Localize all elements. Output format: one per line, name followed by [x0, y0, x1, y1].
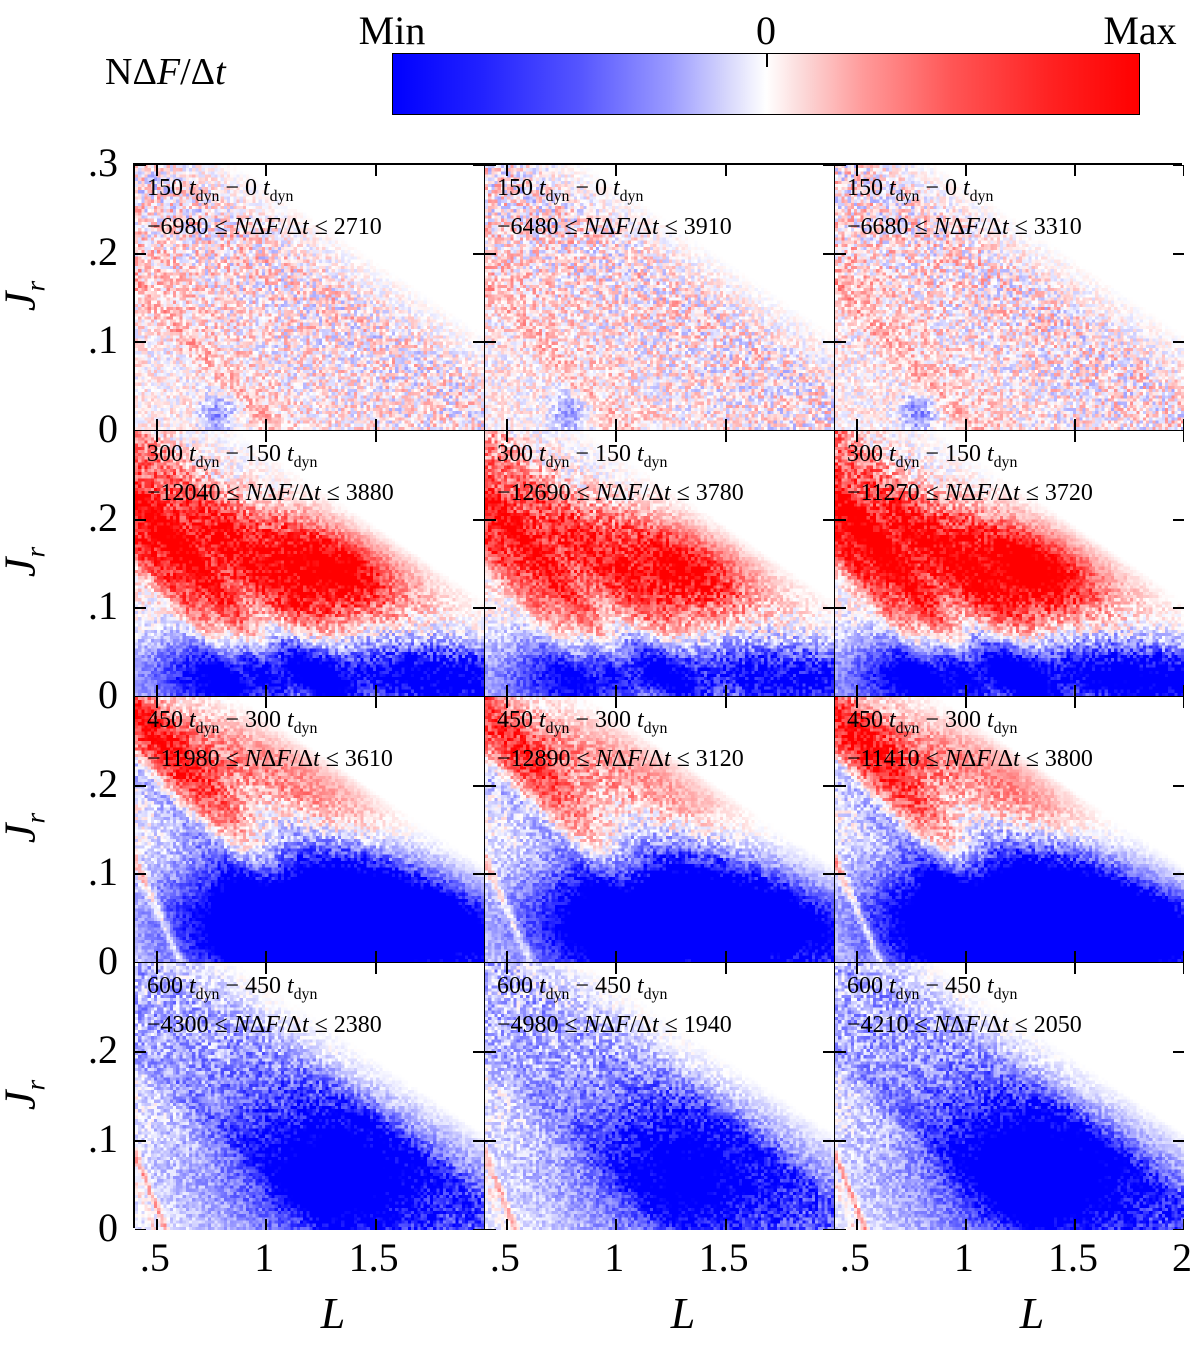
x-tick: [375, 165, 377, 176]
x-tick: [1183, 697, 1184, 708]
panel-value-range: −11410 ≤ NΔF/Δt ≤ 3800: [847, 744, 1093, 774]
x-tick: [615, 431, 617, 442]
panel-value-range: −12040 ≤ NΔF/Δt ≤ 3880: [147, 478, 394, 508]
x-tick: [725, 963, 727, 974]
x-tick: [965, 165, 967, 176]
y-tick: [823, 253, 834, 255]
x-tick: [156, 1219, 158, 1230]
x-tick: [506, 697, 508, 708]
panel-annotation: 300 tdyn − 150 tdyn−12690 ≤ NΔF/Δt ≤ 378…: [497, 439, 744, 508]
y-tick: [485, 253, 496, 255]
y-tick-label: .2: [38, 1030, 118, 1070]
x-tick: [506, 431, 508, 442]
y-tick: [135, 873, 146, 875]
y-tick: [823, 165, 834, 166]
x-tick: [1074, 431, 1076, 442]
x-tick: [265, 1219, 267, 1230]
x-tick: [156, 963, 158, 974]
y-tick: [485, 1140, 496, 1142]
y-tick: [835, 1051, 846, 1053]
x-tick: [506, 165, 508, 176]
y-tick-label: .3: [38, 143, 118, 183]
x-tick: [156, 165, 158, 176]
x-tick: [856, 951, 858, 962]
panel-annotation: 150 tdyn − 0 tdyn−6980 ≤ NΔF/Δt ≤ 2710: [147, 173, 382, 242]
y-tick: [473, 607, 484, 609]
x-tick: [615, 1219, 617, 1230]
y-tick: [835, 165, 846, 166]
x-tick: [265, 685, 267, 696]
panel-r3-c2: 600 tdyn − 450 tdyn−4210 ≤ NΔF/Δt ≤ 2050: [835, 963, 1184, 1230]
panel-time-window: 150 tdyn − 0 tdyn: [847, 173, 1082, 212]
x-tick: [856, 165, 858, 176]
x-tick: [725, 431, 727, 442]
x-tick-label: .5: [140, 1238, 170, 1278]
x-tick: [1183, 685, 1184, 696]
x-tick: [615, 697, 617, 708]
y-tick: [473, 873, 484, 875]
x-tick: [856, 963, 858, 974]
x-tick: [506, 1219, 508, 1230]
x-tick-label: 2: [1172, 1238, 1192, 1278]
y-tick: [1173, 519, 1184, 521]
x-tick: [506, 685, 508, 696]
x-tick: [1074, 963, 1076, 974]
x-tick: [965, 431, 967, 442]
panel-r1-c1: 300 tdyn − 150 tdyn−12690 ≤ NΔF/Δt ≤ 378…: [485, 431, 835, 697]
y-tick: [835, 873, 846, 875]
x-tick: [615, 419, 617, 430]
x-tick: [1183, 431, 1184, 442]
colorbar: Min 0 Max: [392, 53, 1140, 115]
panel-annotation: 450 tdyn − 300 tdyn−12890 ≤ NΔF/Δt ≤ 312…: [497, 705, 744, 774]
panel-annotation: 600 tdyn − 450 tdyn−4210 ≤ NΔF/Δt ≤ 2050: [847, 971, 1082, 1040]
x-tick: [506, 963, 508, 974]
y-tick: [135, 1140, 146, 1142]
x-tick: [375, 685, 377, 696]
x-tick: [1074, 165, 1076, 176]
panel-annotation: 300 tdyn − 150 tdyn−12040 ≤ NΔF/Δt ≤ 388…: [147, 439, 394, 508]
panel-annotation: 150 tdyn − 0 tdyn−6680 ≤ NΔF/Δt ≤ 3310: [847, 173, 1082, 242]
panel-time-window: 150 tdyn − 0 tdyn: [497, 173, 732, 212]
y-tick: [473, 341, 484, 343]
y-tick: [135, 165, 146, 166]
x-tick: [265, 419, 267, 430]
panel-value-range: −4300 ≤ NΔF/Δt ≤ 2380: [147, 1010, 382, 1040]
y-tick: [485, 519, 496, 521]
y-tick-label: .1: [38, 1119, 118, 1159]
x-tick: [856, 697, 858, 708]
y-axis-name-row1: Jr: [0, 547, 51, 577]
panel-time-window: 600 tdyn − 450 tdyn: [847, 971, 1082, 1010]
y-tick: [823, 785, 834, 787]
colorbar-max-label: Max: [1103, 11, 1176, 51]
x-tick: [375, 1219, 377, 1230]
panel-r0-c2: 150 tdyn − 0 tdyn−6680 ≤ NΔF/Δt ≤ 3310: [835, 165, 1184, 431]
y-tick: [823, 607, 834, 609]
panel-time-window: 600 tdyn − 450 tdyn: [147, 971, 382, 1010]
x-tick: [965, 963, 967, 974]
x-tick: [965, 1219, 967, 1230]
x-tick: [1074, 419, 1076, 430]
colorbar-gradient: [392, 53, 1140, 115]
x-tick: [156, 431, 158, 442]
y-tick: [1173, 1140, 1184, 1142]
y-tick: [485, 873, 496, 875]
y-tick-label: 0: [38, 409, 118, 449]
panel-annotation: 300 tdyn − 150 tdyn−11270 ≤ NΔF/Δt ≤ 372…: [847, 439, 1093, 508]
x-tick: [725, 685, 727, 696]
x-tick: [265, 165, 267, 176]
y-tick: [485, 1229, 496, 1230]
panel-annotation: 600 tdyn − 450 tdyn−4980 ≤ NΔF/Δt ≤ 1940: [497, 971, 732, 1040]
panel-annotation: 600 tdyn − 450 tdyn−4300 ≤ NΔF/Δt ≤ 2380: [147, 971, 382, 1040]
y-axis-name-row0: Jr: [0, 281, 51, 311]
panel-value-range: −12690 ≤ NΔF/Δt ≤ 3780: [497, 478, 744, 508]
x-axis-name-col0: L: [321, 1288, 345, 1339]
x-tick: [1074, 697, 1076, 708]
y-tick-label: 0: [38, 941, 118, 981]
x-tick: [375, 419, 377, 430]
x-tick: [615, 963, 617, 974]
y-tick: [485, 1051, 496, 1053]
y-tick-label: 0: [38, 675, 118, 715]
y-axis-name-row3: Jr: [0, 1080, 51, 1110]
x-tick: [375, 697, 377, 708]
panel-time-window: 600 tdyn − 450 tdyn: [497, 971, 732, 1010]
y-tick: [485, 165, 496, 166]
y-tick: [1173, 1051, 1184, 1053]
x-tick: [1183, 419, 1184, 430]
panel-annotation: 150 tdyn − 0 tdyn−6480 ≤ NΔF/Δt ≤ 3910: [497, 173, 732, 242]
x-tick: [965, 419, 967, 430]
panel-value-range: −6980 ≤ NΔF/Δt ≤ 2710: [147, 212, 382, 242]
panel-time-window: 450 tdyn − 300 tdyn: [497, 705, 744, 744]
panel-value-range: −4210 ≤ NΔF/Δt ≤ 2050: [847, 1010, 1082, 1040]
x-tick: [1074, 951, 1076, 962]
y-tick: [835, 253, 846, 255]
y-tick-label: 0: [38, 1208, 118, 1248]
y-tick: [835, 341, 846, 343]
y-tick-label: .1: [38, 852, 118, 892]
y-tick: [823, 1140, 834, 1142]
panel-time-window: 450 tdyn − 300 tdyn: [847, 705, 1093, 744]
panel-r2-c0: 450 tdyn − 300 tdyn−11980 ≤ NΔF/Δt ≤ 361…: [135, 697, 485, 963]
x-tick-label: 1.5: [1048, 1238, 1098, 1278]
y-tick: [135, 785, 146, 787]
x-tick: [856, 1219, 858, 1230]
panel-annotation: 450 tdyn − 300 tdyn−11980 ≤ NΔF/Δt ≤ 361…: [147, 705, 393, 774]
y-tick: [473, 785, 484, 787]
y-tick: [135, 1229, 146, 1230]
y-tick: [135, 341, 146, 343]
y-tick: [1173, 341, 1184, 343]
x-tick: [725, 697, 727, 708]
panel-r0-c0: 150 tdyn − 0 tdyn−6980 ≤ NΔF/Δt ≤ 2710: [135, 165, 485, 431]
x-tick: [375, 951, 377, 962]
x-tick-label: 1.5: [699, 1238, 749, 1278]
y-tick: [823, 1229, 834, 1230]
y-tick: [473, 1051, 484, 1053]
x-tick-label: 1: [254, 1238, 274, 1278]
panel-r3-c1: 600 tdyn − 450 tdyn−4980 ≤ NΔF/Δt ≤ 1940: [485, 963, 835, 1230]
y-tick: [835, 519, 846, 521]
x-tick: [265, 963, 267, 974]
y-tick: [1173, 607, 1184, 609]
panel-time-window: 300 tdyn − 150 tdyn: [147, 439, 394, 478]
y-tick: [485, 341, 496, 343]
x-tick-label: 1: [954, 1238, 974, 1278]
y-axis-name-row2: Jr: [0, 813, 51, 843]
x-tick: [725, 1219, 727, 1230]
colorbar-zero-label: 0: [756, 11, 776, 51]
panel-r2-c2: 450 tdyn − 300 tdyn−11410 ≤ NΔF/Δt ≤ 380…: [835, 697, 1184, 963]
y-tick-label: .2: [38, 498, 118, 538]
y-tick: [135, 519, 146, 521]
x-tick: [965, 951, 967, 962]
y-tick: [823, 1051, 834, 1053]
x-tick: [506, 951, 508, 962]
x-tick: [265, 951, 267, 962]
panel-time-window: 450 tdyn − 300 tdyn: [147, 705, 393, 744]
y-tick: [473, 1140, 484, 1142]
x-axis-name-col1: L: [671, 1288, 695, 1339]
y-tick: [1173, 873, 1184, 875]
panel-value-range: −12890 ≤ NΔF/Δt ≤ 3120: [497, 744, 744, 774]
y-tick: [823, 341, 834, 343]
x-tick: [265, 697, 267, 708]
x-tick: [856, 685, 858, 696]
colorbar-title: NΔF/Δt: [105, 50, 226, 94]
x-tick: [156, 685, 158, 696]
x-tick: [856, 419, 858, 430]
y-tick: [135, 1051, 146, 1053]
y-tick: [835, 1140, 846, 1142]
y-tick: [835, 607, 846, 609]
y-tick-label: .1: [38, 586, 118, 626]
x-tick: [156, 951, 158, 962]
panel-r0-c1: 150 tdyn − 0 tdyn−6480 ≤ NΔF/Δt ≤ 3910: [485, 165, 835, 431]
y-tick: [485, 607, 496, 609]
y-tick: [135, 253, 146, 255]
y-tick: [485, 785, 496, 787]
panel-value-range: −11980 ≤ NΔF/Δt ≤ 3610: [147, 744, 393, 774]
y-tick: [473, 165, 484, 166]
x-tick: [615, 685, 617, 696]
y-tick: [1173, 785, 1184, 787]
panel-grid: 150 tdyn − 0 tdyn−6980 ≤ NΔF/Δt ≤ 271015…: [133, 163, 1182, 1228]
panel-value-range: −4980 ≤ NΔF/Δt ≤ 1940: [497, 1010, 732, 1040]
y-tick: [473, 253, 484, 255]
y-tick: [835, 1229, 846, 1230]
y-tick: [823, 519, 834, 521]
x-tick: [615, 951, 617, 962]
x-axis-name-col2: L: [1020, 1288, 1044, 1339]
y-tick: [473, 1229, 484, 1230]
x-tick: [725, 419, 727, 430]
x-tick: [1183, 1219, 1184, 1230]
x-tick: [1183, 165, 1184, 176]
panel-time-window: 300 tdyn − 150 tdyn: [497, 439, 744, 478]
x-tick: [156, 697, 158, 708]
x-tick: [506, 419, 508, 430]
x-tick: [1183, 951, 1184, 962]
x-tick: [965, 697, 967, 708]
panel-r2-c1: 450 tdyn − 300 tdyn−12890 ≤ NΔF/Δt ≤ 312…: [485, 697, 835, 963]
x-tick-label: 1.5: [349, 1238, 399, 1278]
panel-annotation: 450 tdyn − 300 tdyn−11410 ≤ NΔF/Δt ≤ 380…: [847, 705, 1093, 774]
panel-r1-c0: 300 tdyn − 150 tdyn−12040 ≤ NΔF/Δt ≤ 388…: [135, 431, 485, 697]
x-tick: [856, 431, 858, 442]
colorbar-min-label: Min: [359, 11, 426, 51]
panel-time-window: 150 tdyn − 0 tdyn: [147, 173, 382, 212]
y-tick-label: .1: [38, 320, 118, 360]
x-tick: [965, 685, 967, 696]
x-tick: [615, 165, 617, 176]
x-tick: [725, 951, 727, 962]
x-tick-label: 1: [604, 1238, 624, 1278]
x-tick: [156, 419, 158, 430]
x-tick-label: .5: [490, 1238, 520, 1278]
x-tick: [1074, 1219, 1076, 1230]
y-tick: [835, 785, 846, 787]
y-tick: [473, 519, 484, 521]
panel-value-range: −6680 ≤ NΔF/Δt ≤ 3310: [847, 212, 1082, 242]
x-tick: [265, 431, 267, 442]
x-tick: [375, 431, 377, 442]
x-tick-label: .5: [840, 1238, 870, 1278]
panel-value-range: −6480 ≤ NΔF/Δt ≤ 3910: [497, 212, 732, 242]
panel-time-window: 300 tdyn − 150 tdyn: [847, 439, 1093, 478]
y-tick-label: .2: [38, 764, 118, 804]
panel-r3-c0: 600 tdyn − 450 tdyn−4300 ≤ NΔF/Δt ≤ 2380: [135, 963, 485, 1230]
panel-r1-c2: 300 tdyn − 150 tdyn−11270 ≤ NΔF/Δt ≤ 372…: [835, 431, 1184, 697]
x-tick: [725, 165, 727, 176]
y-tick: [135, 607, 146, 609]
x-tick: [375, 963, 377, 974]
panel-value-range: −11270 ≤ NΔF/Δt ≤ 3720: [847, 478, 1093, 508]
x-tick: [1074, 685, 1076, 696]
y-tick-label: .2: [38, 232, 118, 272]
x-tick: [1183, 963, 1184, 974]
y-tick: [823, 873, 834, 875]
colorbar-zero-tick: [766, 54, 768, 67]
y-tick: [1173, 253, 1184, 255]
